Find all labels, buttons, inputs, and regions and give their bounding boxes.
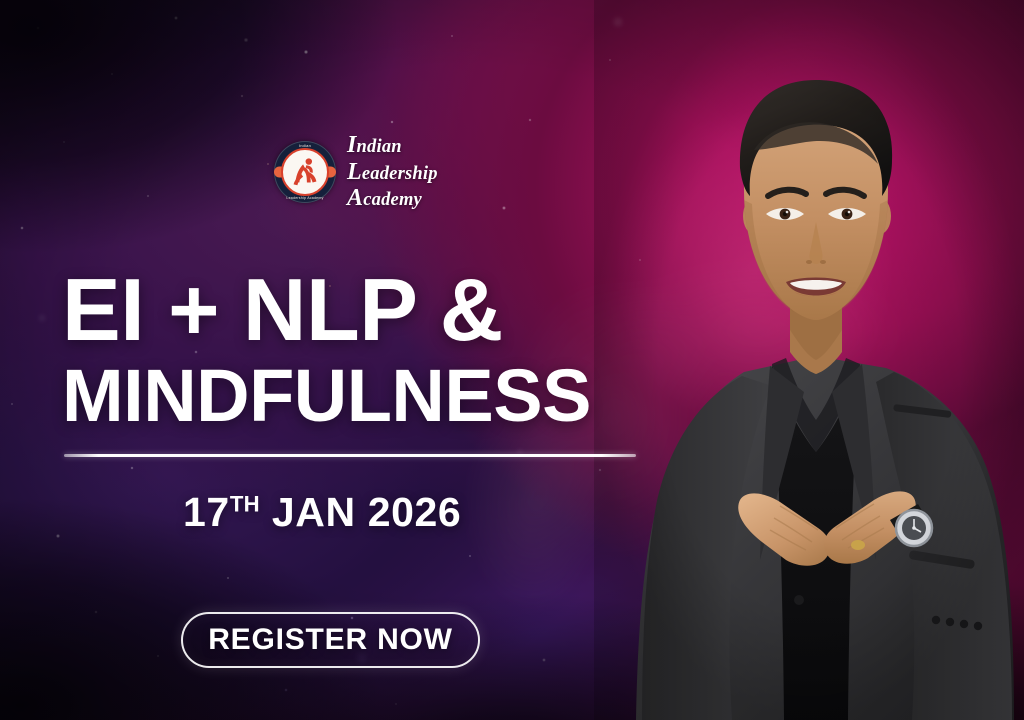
promotional-banner: Indian Leadership Academy In — [0, 0, 1024, 720]
title-divider — [64, 454, 636, 457]
academy-emblem-icon: Indian Leadership Academy — [274, 141, 336, 203]
register-now-label: REGISTER NOW — [208, 623, 453, 657]
brand-name: Indian Leadership Academy — [347, 132, 438, 211]
emblem-figure-icon — [286, 153, 324, 191]
date-month-year: JAN 2026 — [260, 489, 461, 535]
logo-line-1: Indian — [347, 133, 438, 157]
date-day: 17 — [183, 489, 230, 535]
event-date: 17TH JAN 2026 — [183, 489, 461, 536]
event-title: EI + NLP & MINDFULNESS — [62, 268, 662, 432]
date-ordinal: TH — [230, 491, 260, 516]
register-now-button[interactable]: REGISTER NOW — [181, 612, 480, 668]
logo-line-3: Academy — [347, 186, 438, 210]
logo-line-2: Leadership — [347, 160, 438, 184]
emblem-bottom-text: Leadership Academy — [274, 196, 336, 200]
brand-logo: Indian Leadership Academy In — [274, 132, 438, 211]
title-line-2: MINDFULNESS — [62, 360, 662, 431]
title-line-1: EI + NLP & — [62, 268, 662, 352]
